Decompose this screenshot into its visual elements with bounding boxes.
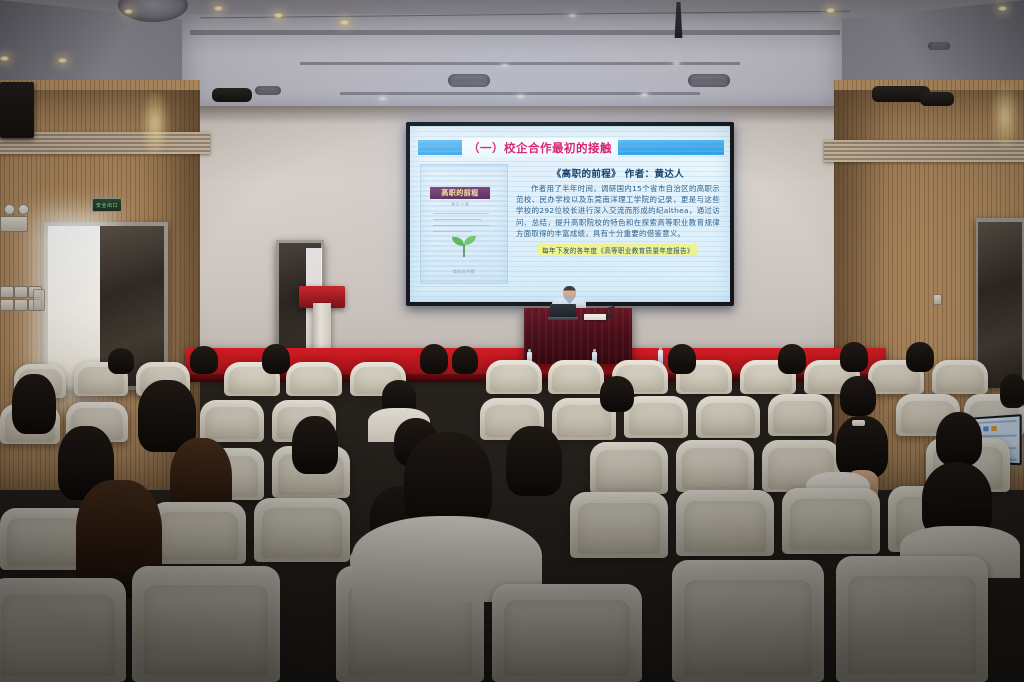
wall-switch[interactable] <box>18 204 29 215</box>
attendee-head <box>600 376 634 412</box>
right-ceiling-speakers-2 <box>920 92 954 106</box>
left-wall-speaker <box>0 82 34 138</box>
ceiling-beam <box>190 30 840 35</box>
air-vent <box>448 74 490 87</box>
wall-plate[interactable] <box>33 289 45 311</box>
slide-paragraph: 作者用了半年时间，调研国内15个省市自治区的高职示范校、民办学校以及东莞南洋理工… <box>516 183 720 239</box>
seat[interactable] <box>548 360 604 394</box>
wall-switch[interactable] <box>4 204 15 215</box>
slide-body: 高职的前程 黄 达 人 著 商务印书馆 <box>420 164 720 296</box>
downlight <box>274 13 283 18</box>
downlight <box>58 58 67 63</box>
book-author: 黄 达 人 著 <box>431 202 489 207</box>
downlight <box>672 61 681 66</box>
air-vent <box>688 74 730 87</box>
slide-text-column: 《高职的前程》 作者：黄达人 作者用了半年时间，调研国内15个省市自治区的高职示… <box>516 164 720 296</box>
nameplate <box>584 314 606 320</box>
seat[interactable] <box>200 400 264 442</box>
right-wall-uplight <box>992 86 1018 148</box>
book-cover-image: 高职的前程 黄 达 人 著 商务印书馆 <box>420 164 508 284</box>
slide-content: （一）校企合作最初的接触 高职的前程 黄 达 人 著 <box>410 126 730 302</box>
air-vent <box>928 42 950 50</box>
seat[interactable] <box>836 556 988 682</box>
downlight <box>826 8 835 13</box>
left-wall-uplight <box>142 92 168 154</box>
seat[interactable] <box>132 566 280 682</box>
hair-clip <box>852 420 865 426</box>
air-vent <box>255 86 281 95</box>
presenter-laptop[interactable] <box>548 304 578 320</box>
sprout-icon <box>449 231 479 262</box>
seat[interactable] <box>254 498 350 562</box>
downlight <box>998 6 1007 11</box>
microphone-arm <box>606 306 615 311</box>
seat[interactable] <box>486 360 542 394</box>
right-wall-trim <box>824 140 1024 162</box>
downlight <box>378 96 387 101</box>
attendee-head <box>452 346 478 374</box>
attendee-head <box>190 346 218 374</box>
attendee-head-long-hair <box>12 374 56 434</box>
downlight <box>640 92 649 97</box>
wall-outlet[interactable] <box>14 299 28 311</box>
downlight <box>0 56 9 61</box>
seat[interactable] <box>676 440 754 492</box>
attendee-head <box>262 344 290 374</box>
seat[interactable] <box>0 578 126 682</box>
downlight <box>340 20 349 25</box>
projection-screen: （一）校企合作最初的接触 高职的前程 黄 达 人 著 <box>406 122 734 306</box>
laptop-keyboard <box>548 317 578 320</box>
wall-outlet[interactable] <box>933 294 942 305</box>
seat[interactable] <box>932 360 988 394</box>
downlight <box>516 94 525 99</box>
attendee-head <box>778 344 806 374</box>
seat[interactable] <box>286 362 342 396</box>
seat[interactable] <box>570 492 668 558</box>
wall-plate[interactable] <box>0 216 28 232</box>
audience-seating <box>0 330 1024 682</box>
slide-highlight: 每年下发的各年度《高等职业教育质量年度报告》 <box>538 244 698 256</box>
seat[interactable] <box>676 490 774 556</box>
book-title: 高职的前程 <box>441 188 479 198</box>
attendee-head <box>936 412 982 466</box>
slide-heading: 《高职的前程》 作者：黄达人 <box>516 166 720 180</box>
slide-title: （一）校企合作最初的接触 <box>462 138 618 157</box>
seat[interactable] <box>696 396 760 438</box>
attendee-head <box>108 348 134 374</box>
seat[interactable] <box>492 584 642 682</box>
seat[interactable] <box>782 488 880 554</box>
attendee-head <box>668 344 696 374</box>
exit-sign-label: 安全出口 <box>96 202 118 209</box>
downlight <box>124 9 133 14</box>
auditorium-photo: 安全出口 （一）校企合作最初的接触 高职的前程 黄 达 人 著 <box>0 0 1024 682</box>
wall-outlet[interactable] <box>0 286 14 298</box>
downlight <box>214 6 223 11</box>
book-title-band: 高职的前程 <box>430 187 490 199</box>
seat[interactable] <box>768 394 832 436</box>
wall-outlet[interactable] <box>0 299 14 311</box>
attendee-head-long-hair <box>506 426 562 496</box>
seat[interactable] <box>150 502 246 564</box>
book-publisher: 商务印书馆 <box>421 269 507 275</box>
attendee-head <box>906 342 934 372</box>
laptop-screen <box>550 304 576 317</box>
attendee-head <box>292 416 338 474</box>
seat[interactable] <box>590 442 668 494</box>
wall-outlet[interactable] <box>14 286 28 298</box>
attendee-head <box>840 342 868 372</box>
attendee-head <box>840 376 876 416</box>
downlight <box>568 13 577 18</box>
exit-sign: 安全出口 <box>92 198 122 212</box>
attendee-head <box>1000 374 1024 408</box>
downlight <box>500 63 509 68</box>
left-ceiling-speakers <box>212 88 252 102</box>
attendee-head <box>420 344 448 374</box>
seat[interactable] <box>672 560 824 682</box>
